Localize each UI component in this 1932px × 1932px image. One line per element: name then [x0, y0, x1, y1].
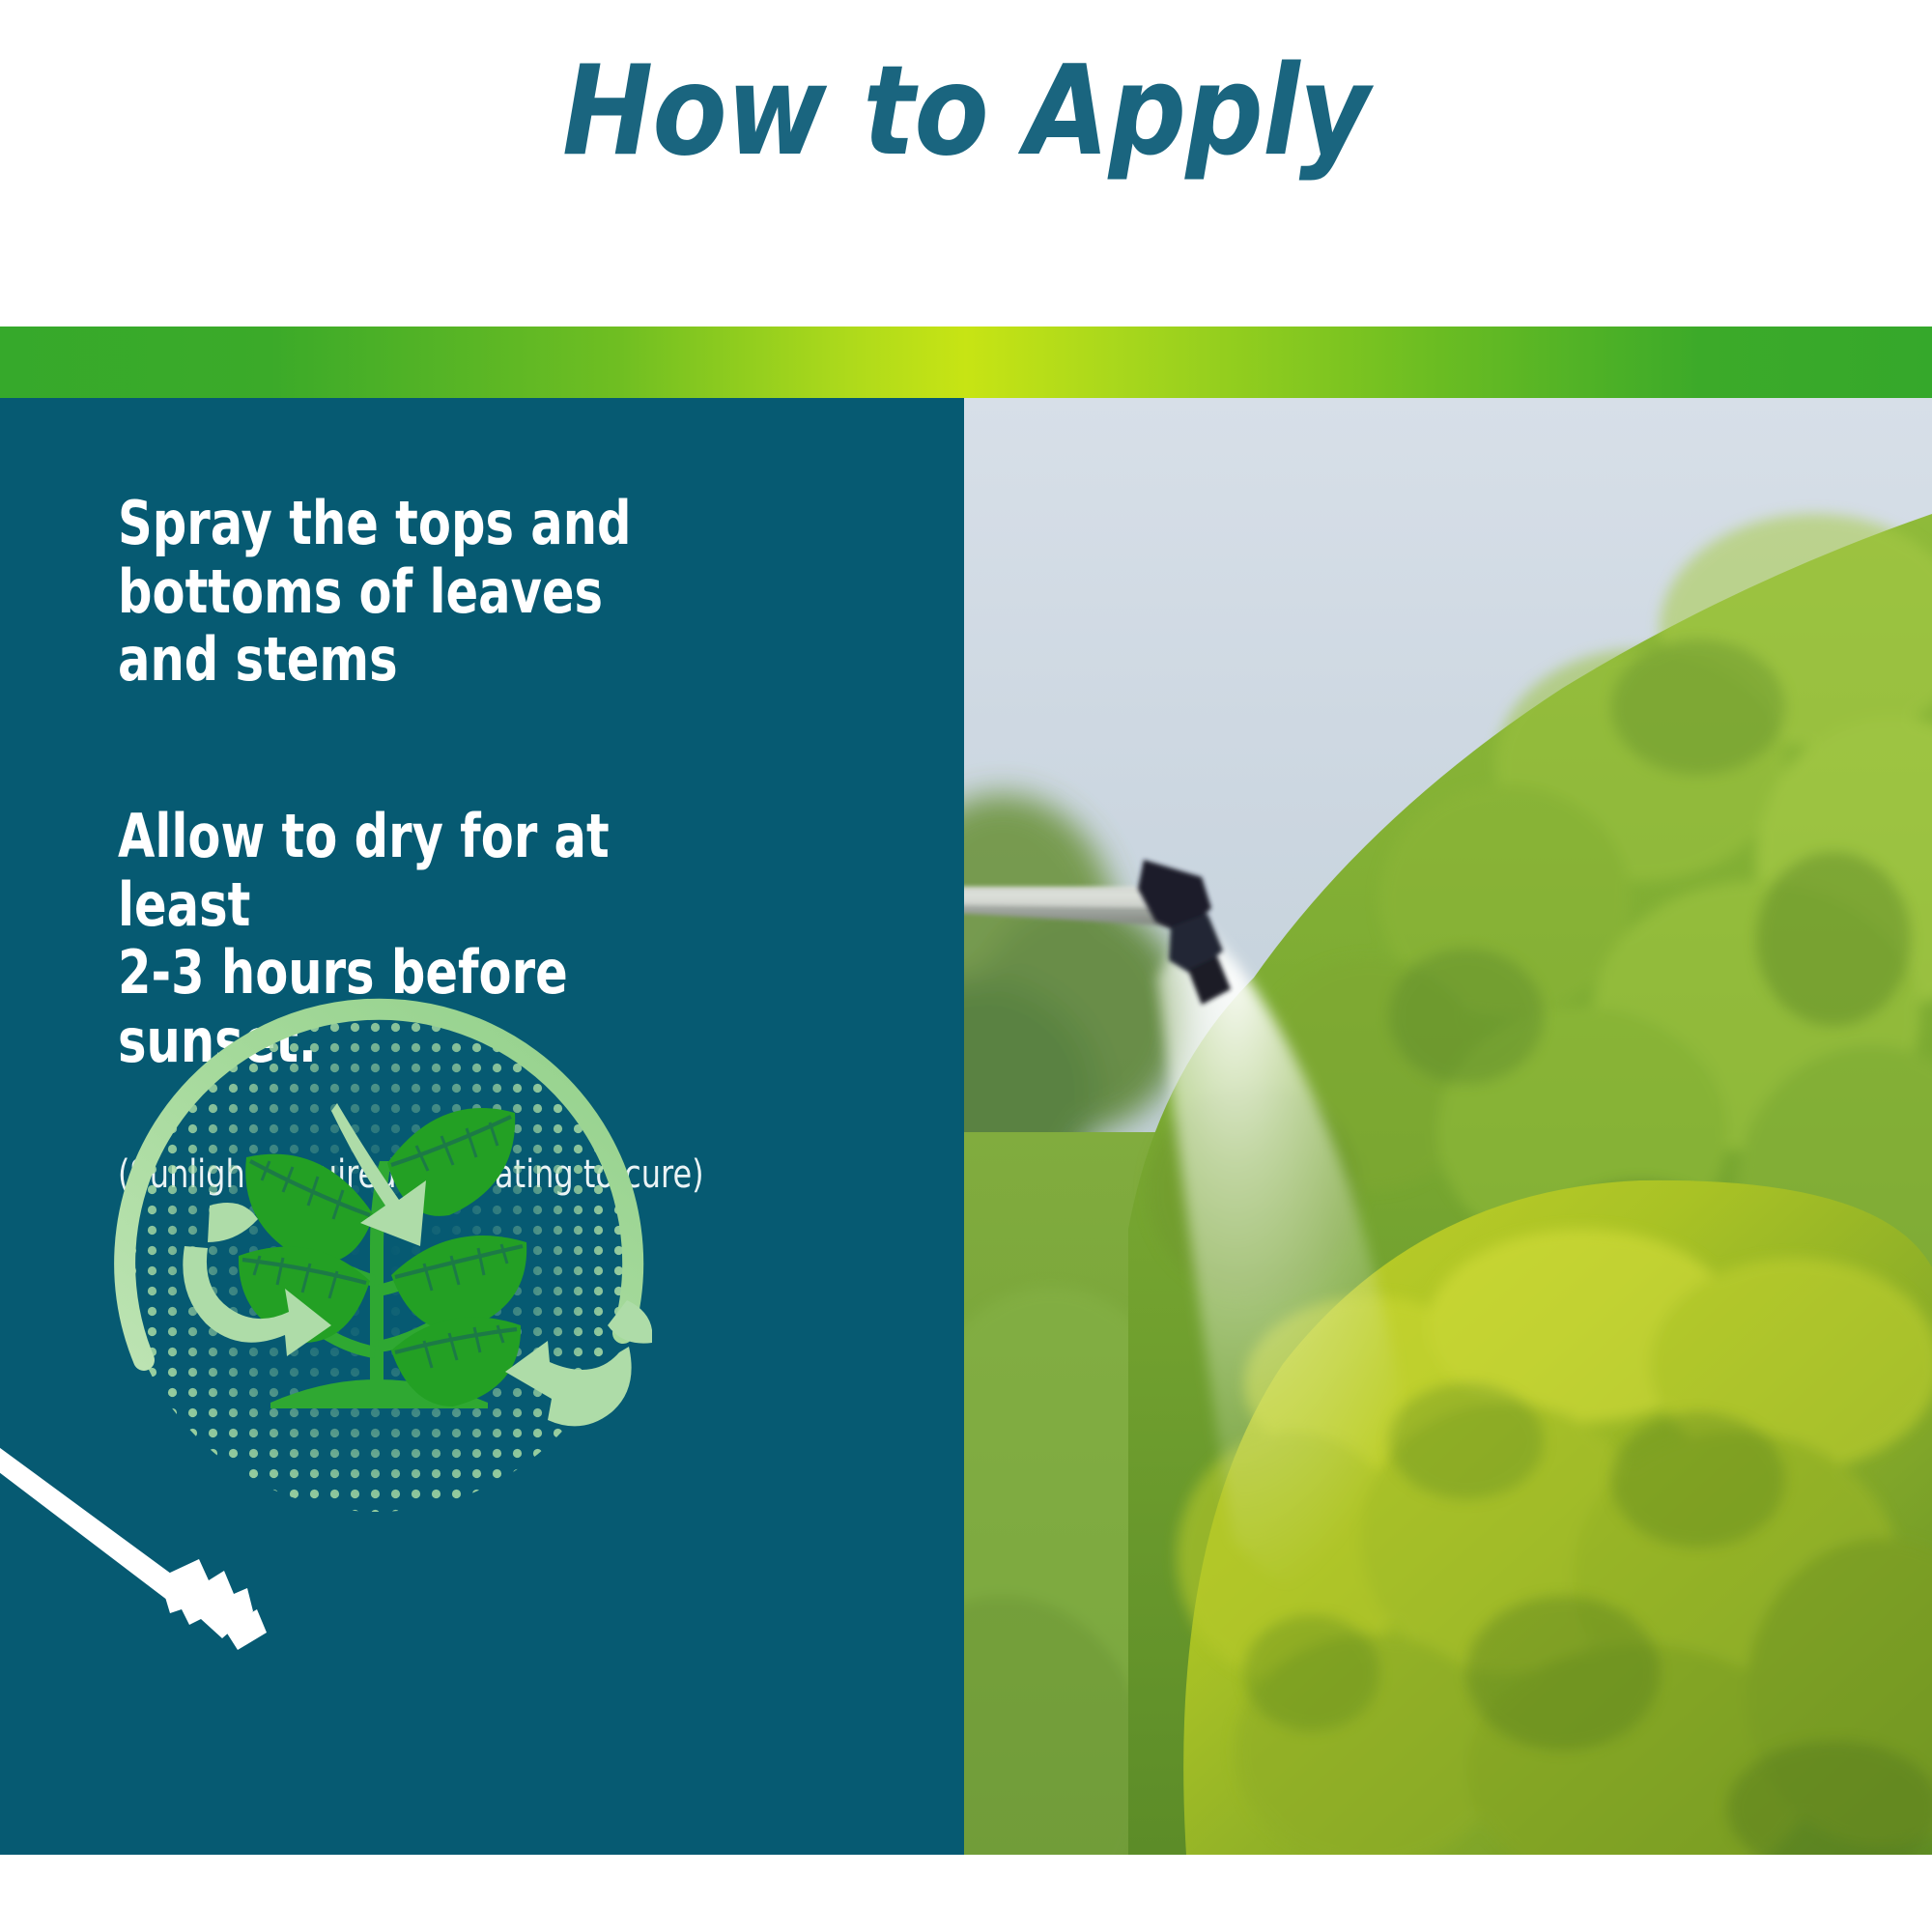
page-header: How to Apply	[0, 0, 1932, 319]
page-title: How to Apply	[562, 50, 1369, 174]
infographic-page: How to Apply Spray the tops and bottoms …	[0, 0, 1932, 1932]
info-panel: Spray the tops and bottoms of leaves and…	[0, 398, 964, 1855]
content-area: Spray the tops and bottoms of leaves and…	[0, 398, 1932, 1855]
plant-protection-badge	[101, 956, 652, 1536]
instruction-headline-1: Spray the tops and bottoms of leaves and…	[118, 490, 752, 695]
footer-spacer	[0, 1855, 1932, 1932]
green-gradient-bar	[0, 327, 1932, 398]
hedge-spraying-photo	[964, 398, 1932, 1855]
